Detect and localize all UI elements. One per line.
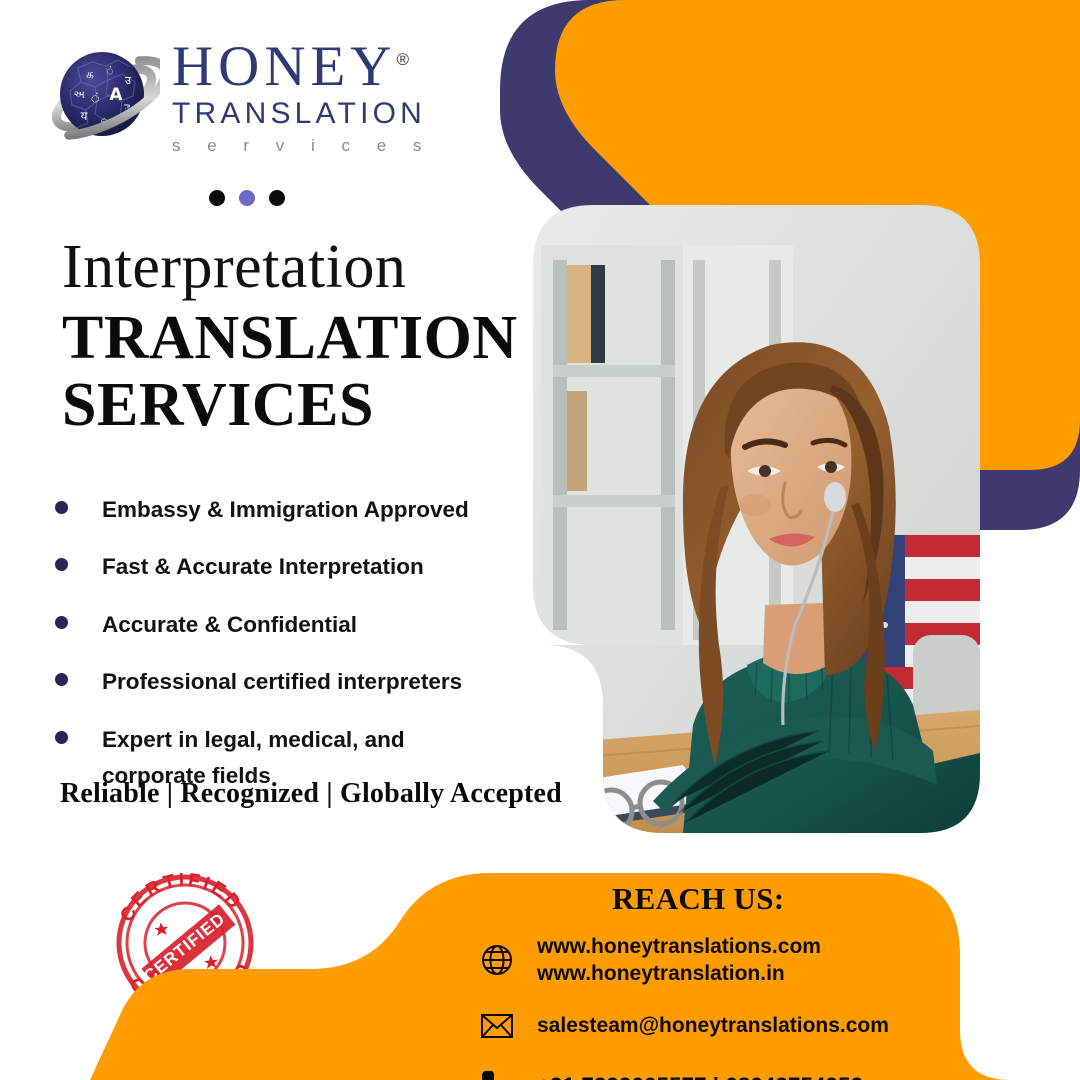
bullet-dot-icon <box>55 616 68 629</box>
logo-wordmark: HONEY® <box>172 38 409 95</box>
list-item: Fast & Accurate Interpretation <box>55 549 525 585</box>
dot-3 <box>269 190 285 206</box>
dot-1 <box>209 190 225 206</box>
list-item: Professional certified interpreters <box>55 664 525 700</box>
headline-line-1: TRANSLATION <box>62 305 518 372</box>
contact-details: REACH US: www.honeytranslations.com www.… <box>475 881 1065 1080</box>
phone-icon <box>475 1064 519 1080</box>
contact-title: REACH US: <box>612 881 1065 917</box>
contact-panel: REACH US: www.honeytranslations.com www.… <box>0 855 1080 1080</box>
website-2[interactable]: www.honeytranslation.in <box>537 960 821 987</box>
contact-row-email[interactable]: salesteam@honeytranslations.com <box>475 1004 1065 1048</box>
bullet-dot-icon <box>55 558 68 571</box>
email-text[interactable]: salesteam@honeytranslations.com <box>537 1012 889 1039</box>
list-item-label: Accurate & Confidential <box>102 607 357 643</box>
headline-line-2: SERVICES <box>62 372 518 439</box>
headline-main: TRANSLATION SERVICES <box>62 305 518 439</box>
registered-trademark-icon: ® <box>396 50 409 69</box>
brand-logo[interactable]: க ं उ અ ் A य வ ై HONEY® TRANSLATION s e… <box>48 38 432 154</box>
poster-canvas: க ं उ અ ் A य வ ై HONEY® TRANSLATION s e… <box>0 0 1080 1080</box>
svg-text:અ: અ <box>73 88 85 101</box>
contact-row-website[interactable]: www.honeytranslations.com www.honeytrans… <box>475 933 1065 988</box>
svg-text:்: ் <box>90 91 102 106</box>
list-item-label: Fast & Accurate Interpretation <box>102 549 424 585</box>
contact-row-phone[interactable]: +91 7299005577 | 08042754952 <box>475 1064 1065 1080</box>
dot-separator <box>209 190 285 206</box>
globe-languages-icon: க ं उ અ ் A य வ ై <box>48 40 160 152</box>
interpreter-photo <box>533 205 980 833</box>
list-item-label: Embassy & Immigration Approved <box>102 492 469 528</box>
tagline: Reliable | Recognized | Globally Accepte… <box>60 778 562 810</box>
svg-text:ं: ं <box>106 64 113 78</box>
website-1[interactable]: www.honeytranslations.com <box>537 933 821 960</box>
logo-line-services: s e r v i c e s <box>172 137 432 154</box>
globe-icon <box>475 938 519 982</box>
bullet-dot-icon <box>55 731 68 744</box>
svg-text:य: य <box>81 109 89 123</box>
list-item-label: Professional certified interpreters <box>102 664 462 700</box>
phone-text[interactable]: +91 7299005577 | 08042754952 <box>537 1071 863 1080</box>
svg-text:उ: उ <box>125 74 132 87</box>
feature-list: Embassy & Immigration Approved Fast & Ac… <box>55 492 525 816</box>
envelope-icon <box>475 1004 519 1048</box>
list-item: Embassy & Immigration Approved <box>55 492 525 528</box>
logo-name-text: HONEY <box>172 35 396 98</box>
website-text: www.honeytranslations.com www.honeytrans… <box>537 933 821 988</box>
dot-2 <box>239 190 255 206</box>
bullet-dot-icon <box>55 501 68 514</box>
logo-line-translation: TRANSLATION <box>172 99 432 129</box>
svg-text:A: A <box>109 85 123 105</box>
bullet-dot-icon <box>55 673 68 686</box>
svg-text:க: க <box>86 67 94 81</box>
headline-script: Interpretation <box>62 236 406 298</box>
list-item: Accurate & Confidential <box>55 607 525 643</box>
